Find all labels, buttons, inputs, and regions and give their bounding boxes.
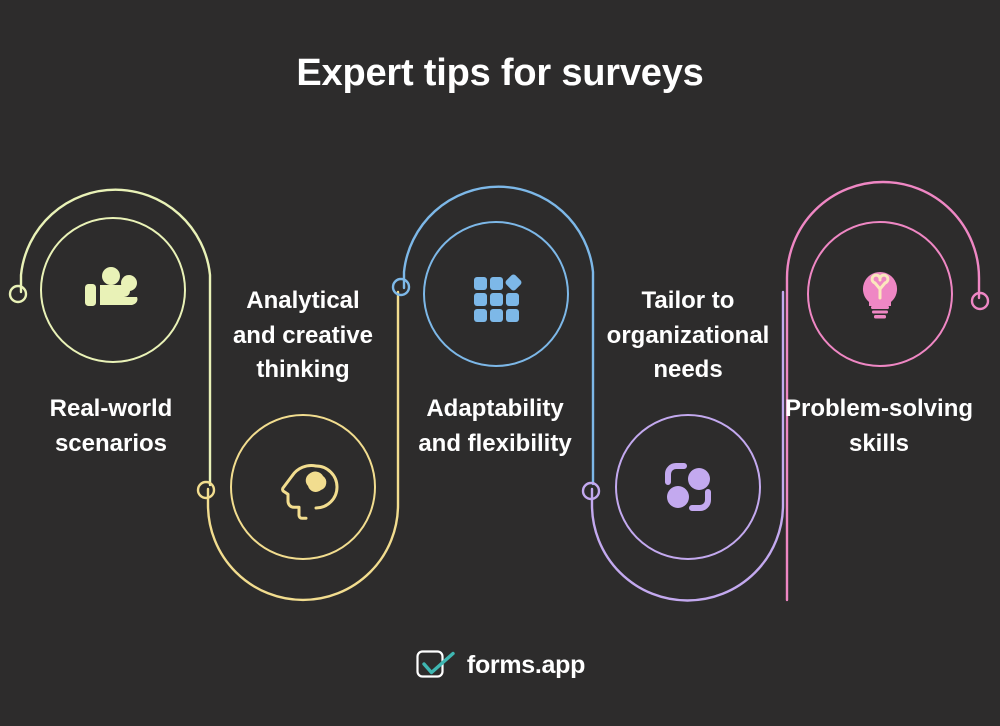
infographic-canvas: Expert tips for surveys bbox=[0, 0, 1000, 726]
connector-path-5 bbox=[787, 182, 979, 600]
node-label-analytical: Analytical and creative thinking bbox=[213, 284, 393, 388]
node-label-real-world: Real-world scenarios bbox=[14, 392, 208, 461]
scan-dots-icon bbox=[667, 466, 710, 508]
forms-app-check-logo bbox=[415, 648, 457, 682]
footer-brand: forms.app bbox=[0, 648, 1000, 682]
node-label-adaptability: Adaptability and flexibility bbox=[400, 392, 590, 461]
brand-name: forms.app bbox=[467, 651, 585, 680]
node-label-problem-solving: Problem-solving skills bbox=[782, 392, 976, 461]
node-group-problem-solving bbox=[787, 182, 988, 600]
connector-endpoint-1-start bbox=[10, 286, 26, 302]
diagram-artwork bbox=[0, 0, 1000, 726]
lightbulb-icon bbox=[863, 272, 897, 319]
grid-blocks-icon bbox=[474, 273, 523, 322]
connector-endpoint-2-start bbox=[198, 482, 214, 498]
node-label-tailor: Tailor to organizational needs bbox=[592, 284, 784, 388]
connector-endpoint-3-start bbox=[393, 279, 409, 295]
node-circle-tailor bbox=[616, 415, 760, 559]
node-circle-analytical bbox=[231, 415, 375, 559]
hand-holding-people-icon bbox=[85, 267, 137, 306]
head-brain-icon bbox=[283, 466, 337, 519]
